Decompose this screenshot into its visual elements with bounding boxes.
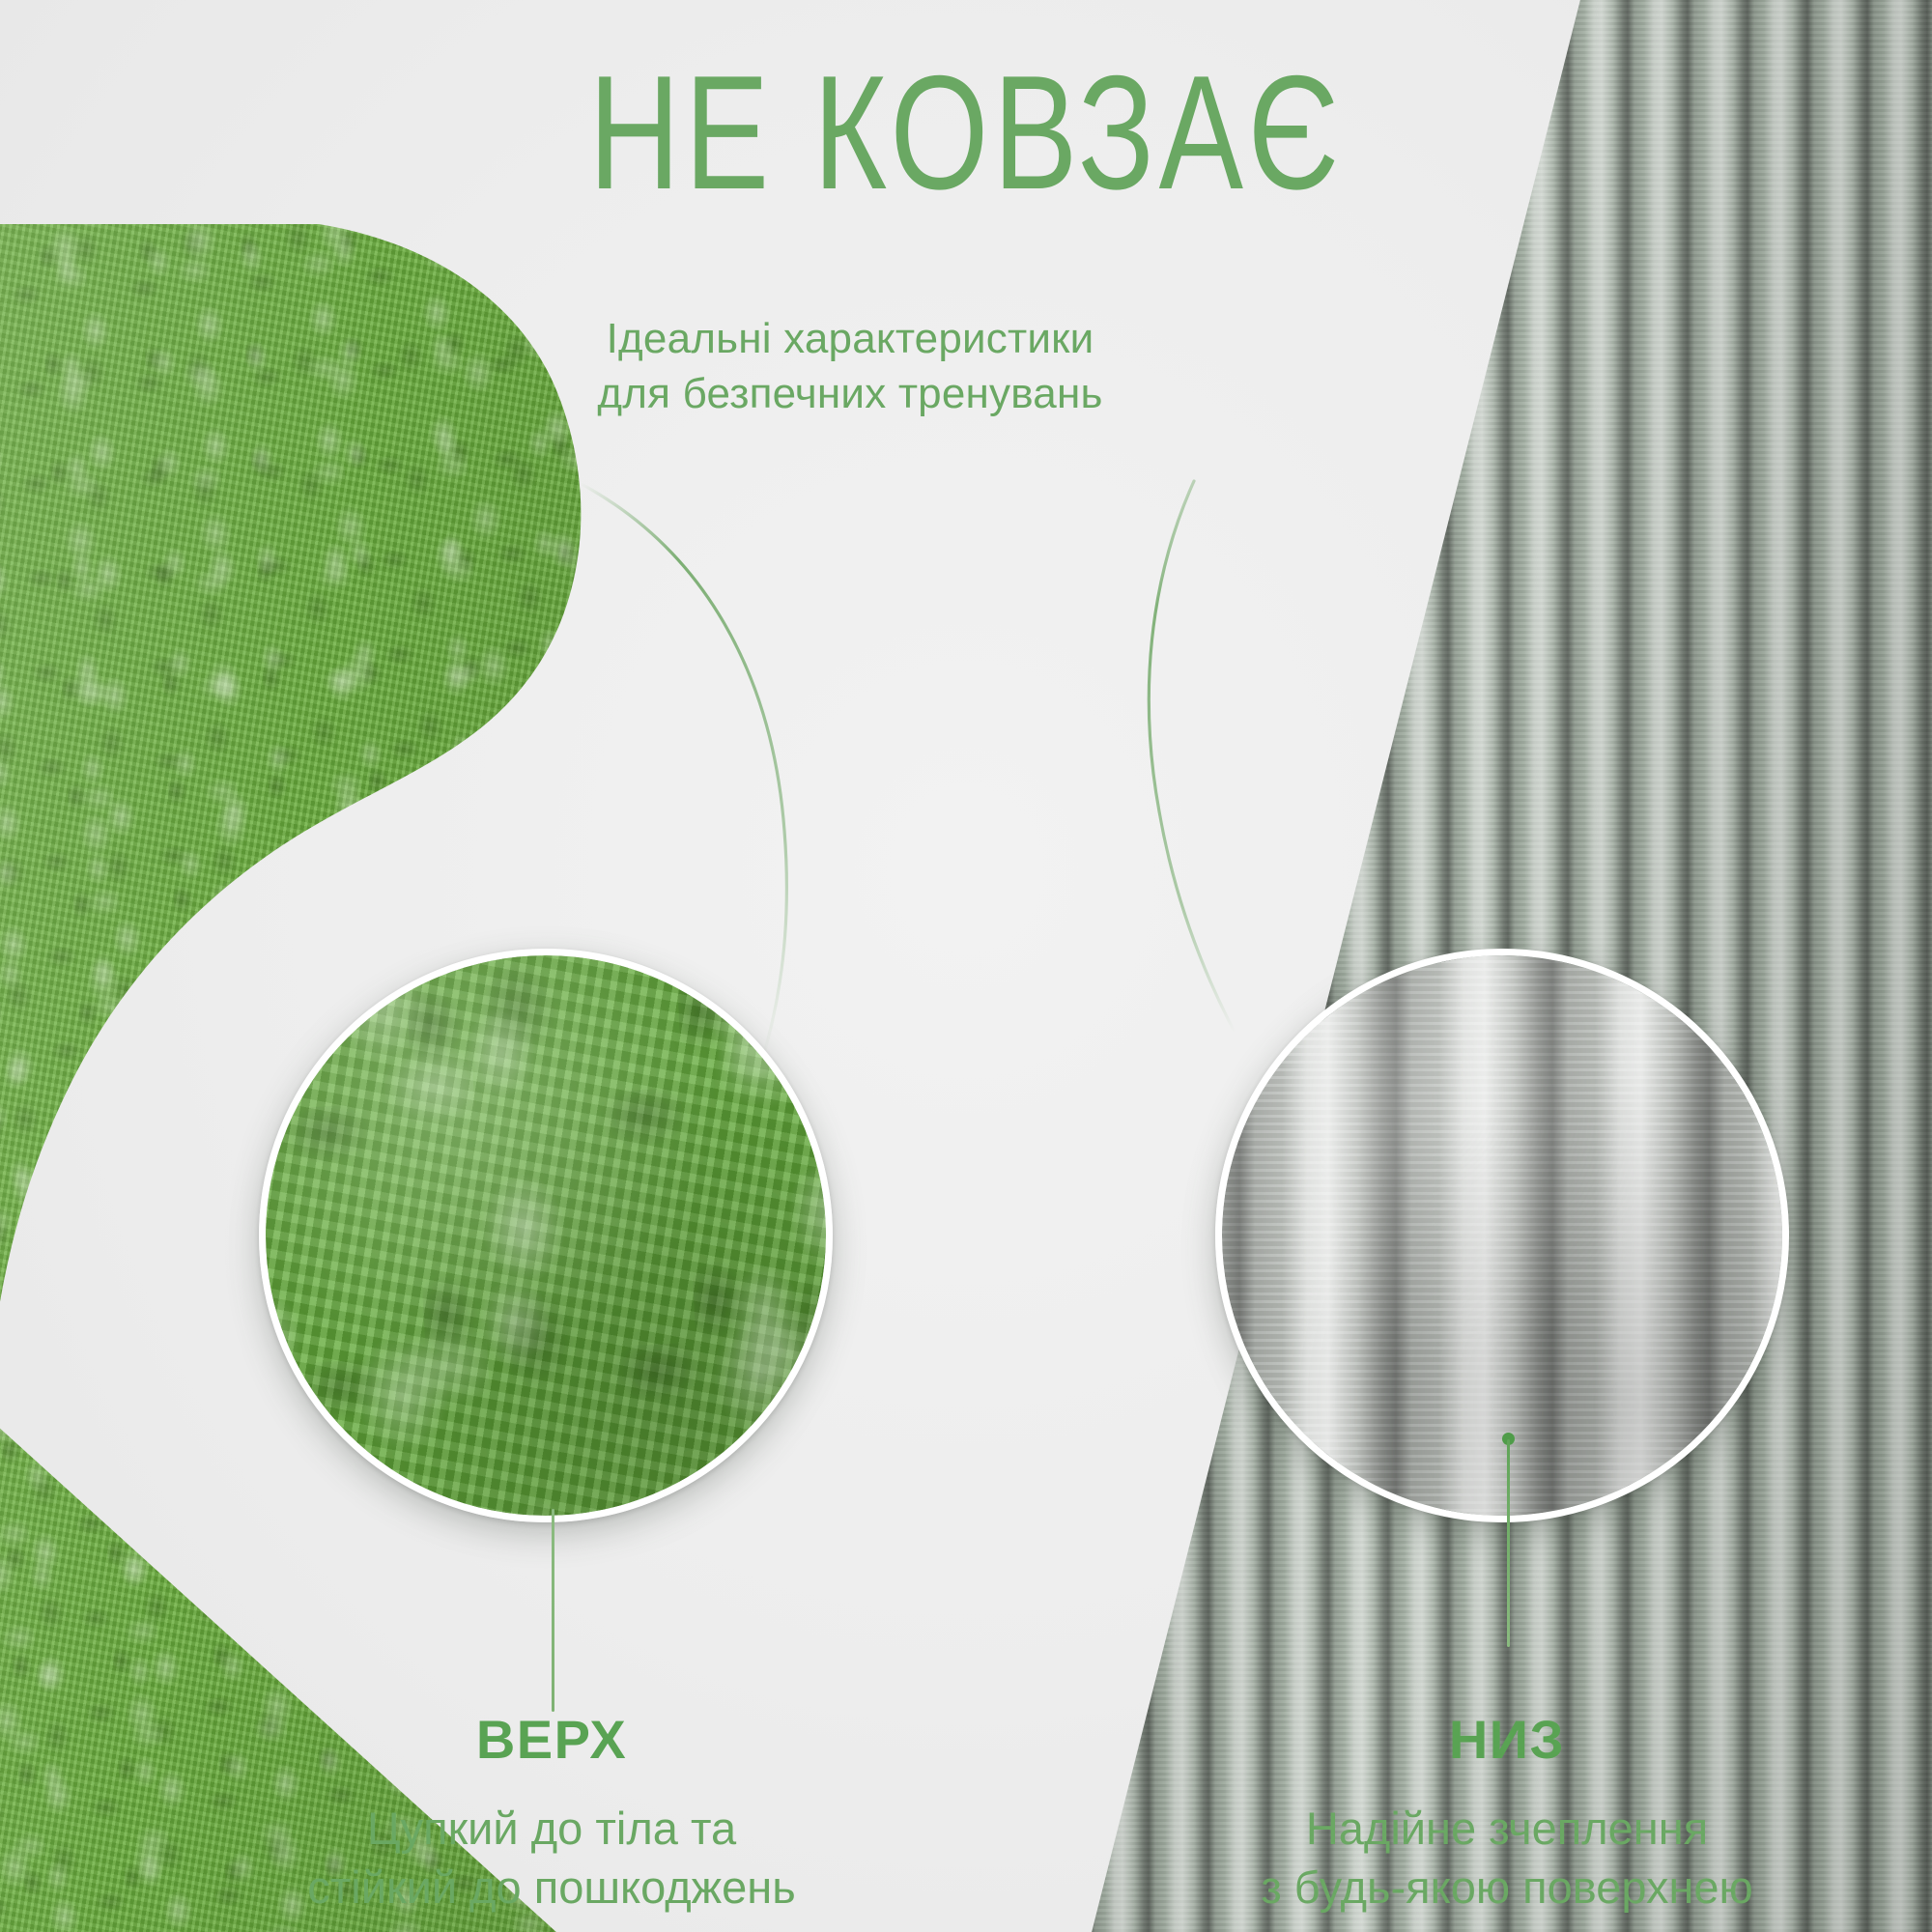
feature-desc-top: Цупкий до тіла та стійкий до пошкоджень — [175, 1799, 928, 1917]
feature-desc-top-line-2: стійкий до пошкоджень — [175, 1858, 928, 1917]
leader-line-top — [552, 1509, 554, 1712]
subtitle-line-2: для безпечних тренувань — [541, 366, 1159, 421]
page-subtitle: Ідеальні характеристики для безпечних тр… — [541, 311, 1159, 421]
page-title: НЕ КОВЗАЄ — [213, 50, 1719, 215]
feature-caption-bottom: НИЗ — [1217, 1708, 1797, 1771]
feature-desc-bottom-line-2: з будь-якою поверхнею — [1130, 1858, 1884, 1917]
feature-desc-bottom: Надійне зчеплення з будь-якою поверхнею — [1130, 1799, 1884, 1917]
magnifier-circle-green — [259, 949, 833, 1522]
feature-desc-bottom-line-1: Надійне зчеплення — [1130, 1799, 1884, 1858]
leader-line-bottom — [1507, 1439, 1510, 1647]
grey-texture-zoom — [1222, 955, 1782, 1516]
feature-caption-top: ВЕРХ — [262, 1708, 841, 1771]
green-texture-zoom — [266, 955, 826, 1516]
subtitle-line-1: Ідеальні характеристики — [541, 311, 1159, 366]
promo-banner: НЕ КОВЗАЄ Ідеальні характеристики для бе… — [0, 0, 1932, 1932]
feature-desc-top-line-1: Цупкий до тіла та — [175, 1799, 928, 1858]
